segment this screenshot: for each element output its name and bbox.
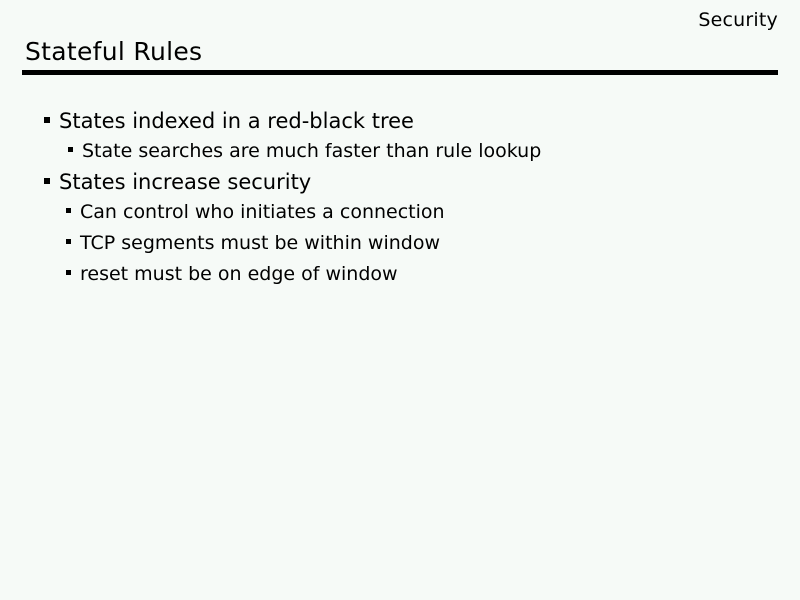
bullet-item-level2: reset must be on edge of window (0, 259, 800, 290)
slide-title: Stateful Rules (25, 37, 202, 67)
small-square-bullet-icon (66, 270, 71, 275)
bullet-item-label: Can control who initiates a connection (80, 197, 445, 228)
bullet-item-label: States indexed in a red-black tree (59, 106, 414, 136)
presentation-slide: Security Stateful Rules States indexed i… (0, 0, 800, 600)
square-bullet-icon (44, 178, 50, 184)
bullet-item-label: TCP segments must be within window (80, 228, 440, 259)
bullet-item-level2: State searches are much faster than rule… (0, 136, 800, 167)
bullet-item-level2: TCP segments must be within window (0, 228, 800, 259)
square-bullet-icon (44, 117, 50, 123)
small-square-bullet-icon (66, 208, 71, 213)
bullet-item-label: States increase security (59, 167, 311, 197)
slide-bullet-list: States indexed in a red-black tree State… (0, 106, 800, 290)
bullet-item-label: State searches are much faster than rule… (82, 136, 541, 167)
title-divider-rule (22, 70, 778, 75)
bullet-item-label: reset must be on edge of window (80, 259, 398, 290)
bullet-item-level1: States indexed in a red-black tree (0, 106, 800, 136)
small-square-bullet-icon (66, 239, 71, 244)
bullet-item-level1: States increase security (0, 167, 800, 197)
slide-header-topic: Security (698, 9, 778, 31)
small-square-bullet-icon (68, 147, 73, 152)
bullet-item-level2: Can control who initiates a connection (0, 197, 800, 228)
